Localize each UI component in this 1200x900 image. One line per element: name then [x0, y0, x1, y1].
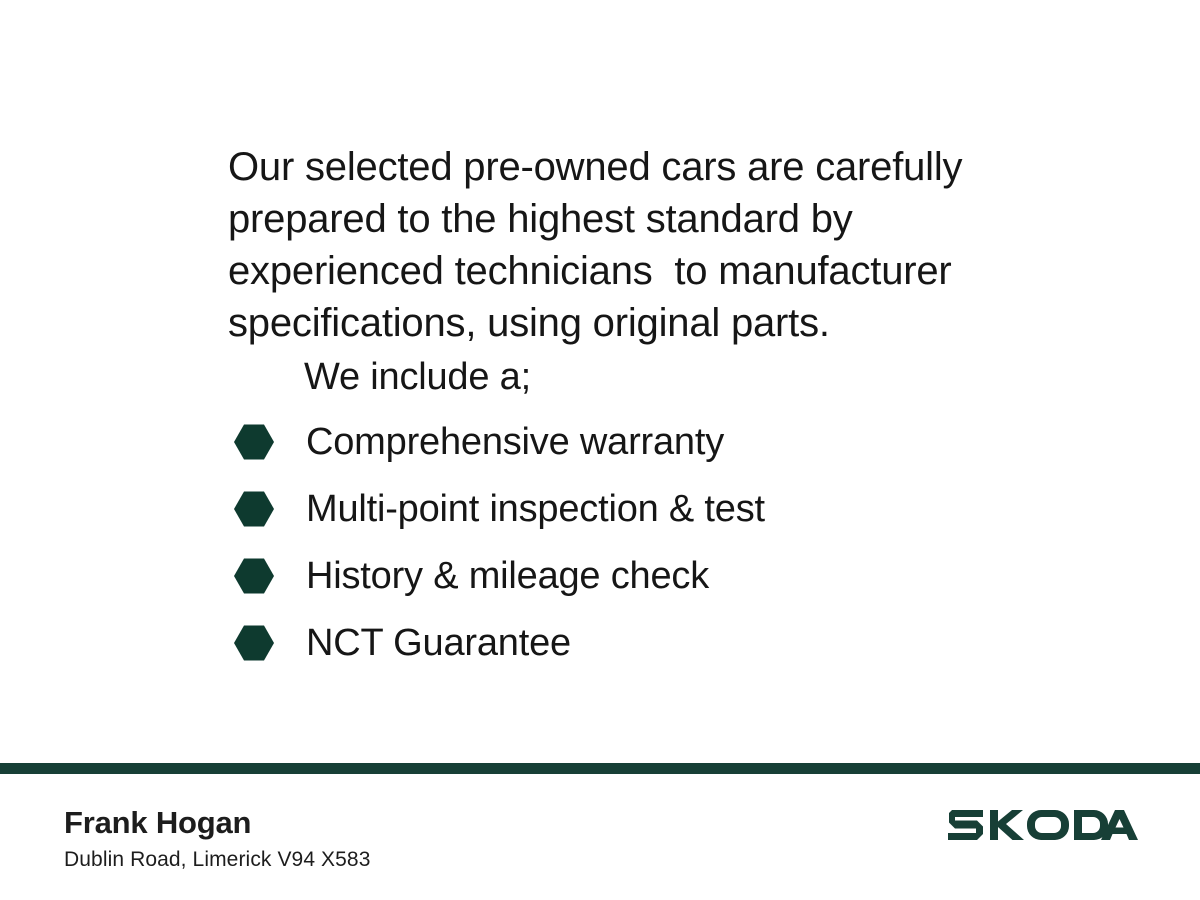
list-item: NCT Guarantee	[234, 619, 974, 667]
dealer-block: Frank Hogan Dublin Road, Limerick V94 X5…	[64, 804, 371, 873]
intro-paragraph: Our selected pre-owned cars are carefull…	[228, 141, 1018, 349]
dealer-name: Frank Hogan	[64, 804, 371, 842]
hexagon-bullet-icon	[234, 557, 274, 595]
hexagon-bullet-icon	[234, 423, 274, 461]
includes-list: Comprehensive warranty Multi-point inspe…	[234, 418, 974, 686]
hexagon-bullet-icon	[234, 624, 274, 662]
list-item-label: NCT Guarantee	[306, 620, 571, 666]
list-item: Multi-point inspection & test	[234, 485, 974, 533]
slide-canvas: Our selected pre-owned cars are carefull…	[0, 0, 1200, 900]
footer-divider-bar	[0, 763, 1200, 774]
includes-lead-text: We include a;	[304, 354, 531, 400]
footer: Frank Hogan Dublin Road, Limerick V94 X5…	[0, 774, 1200, 900]
list-item: Comprehensive warranty	[234, 418, 974, 466]
hexagon-bullet-icon	[234, 490, 274, 528]
list-item-label: Multi-point inspection & test	[306, 486, 765, 532]
list-item-label: Comprehensive warranty	[306, 419, 724, 465]
dealer-address: Dublin Road, Limerick V94 X583	[64, 847, 371, 873]
list-item-label: History & mileage check	[306, 553, 709, 599]
skoda-wordmark-icon: SKODA	[948, 804, 1138, 846]
list-item: History & mileage check	[234, 552, 974, 600]
